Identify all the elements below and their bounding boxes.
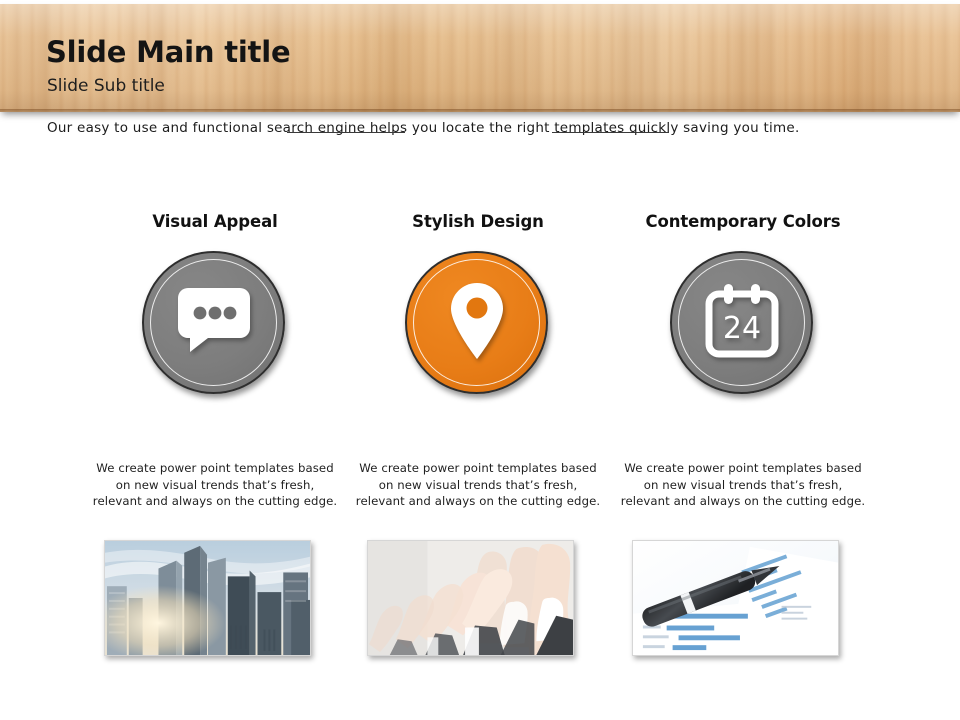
column-description: We create power point templates based on… <box>90 460 340 510</box>
column-heading: Stylish Design <box>353 212 603 231</box>
badge-wrapper <box>90 243 340 393</box>
chat-bubble-icon <box>176 286 252 360</box>
feature-column-stylish-design: Stylish Design We create power point tem… <box>353 212 603 393</box>
badge-circle-visual-appeal[interactable] <box>142 251 285 394</box>
intro-text: Our easy to use and functional search en… <box>47 120 927 136</box>
calendar-day-number: 24 <box>722 311 760 346</box>
page-title: Slide Main title <box>46 35 290 69</box>
connector-line-1 <box>287 132 405 133</box>
map-pin-icon <box>446 281 508 365</box>
column-heading: Visual Appeal <box>90 212 340 231</box>
badge-wrapper: 24 <box>618 243 868 393</box>
applauding-business-people-photo <box>367 540 574 656</box>
badge-circle-stylish-design[interactable] <box>405 251 548 394</box>
header-banner: Slide Main title Slide Sub title <box>0 4 960 112</box>
column-description: We create power point templates based on… <box>618 460 868 510</box>
badge-circle-contemporary-colors[interactable]: 24 <box>670 251 813 394</box>
feature-column-visual-appeal: Visual Appeal We create power point temp… <box>90 212 340 393</box>
badge-wrapper <box>353 243 603 393</box>
column-description: We create power point templates based on… <box>353 460 603 510</box>
calendar-24-icon: 24 <box>703 282 781 364</box>
page-subtitle: Slide Sub title <box>47 76 165 96</box>
column-heading: Contemporary Colors <box>618 212 868 231</box>
pen-on-charts-photo <box>632 540 839 656</box>
feature-column-contemporary-colors: Contemporary Colors 24 We create power p… <box>618 212 868 393</box>
connector-line-2 <box>552 132 669 133</box>
city-skyline-photo <box>104 540 311 656</box>
